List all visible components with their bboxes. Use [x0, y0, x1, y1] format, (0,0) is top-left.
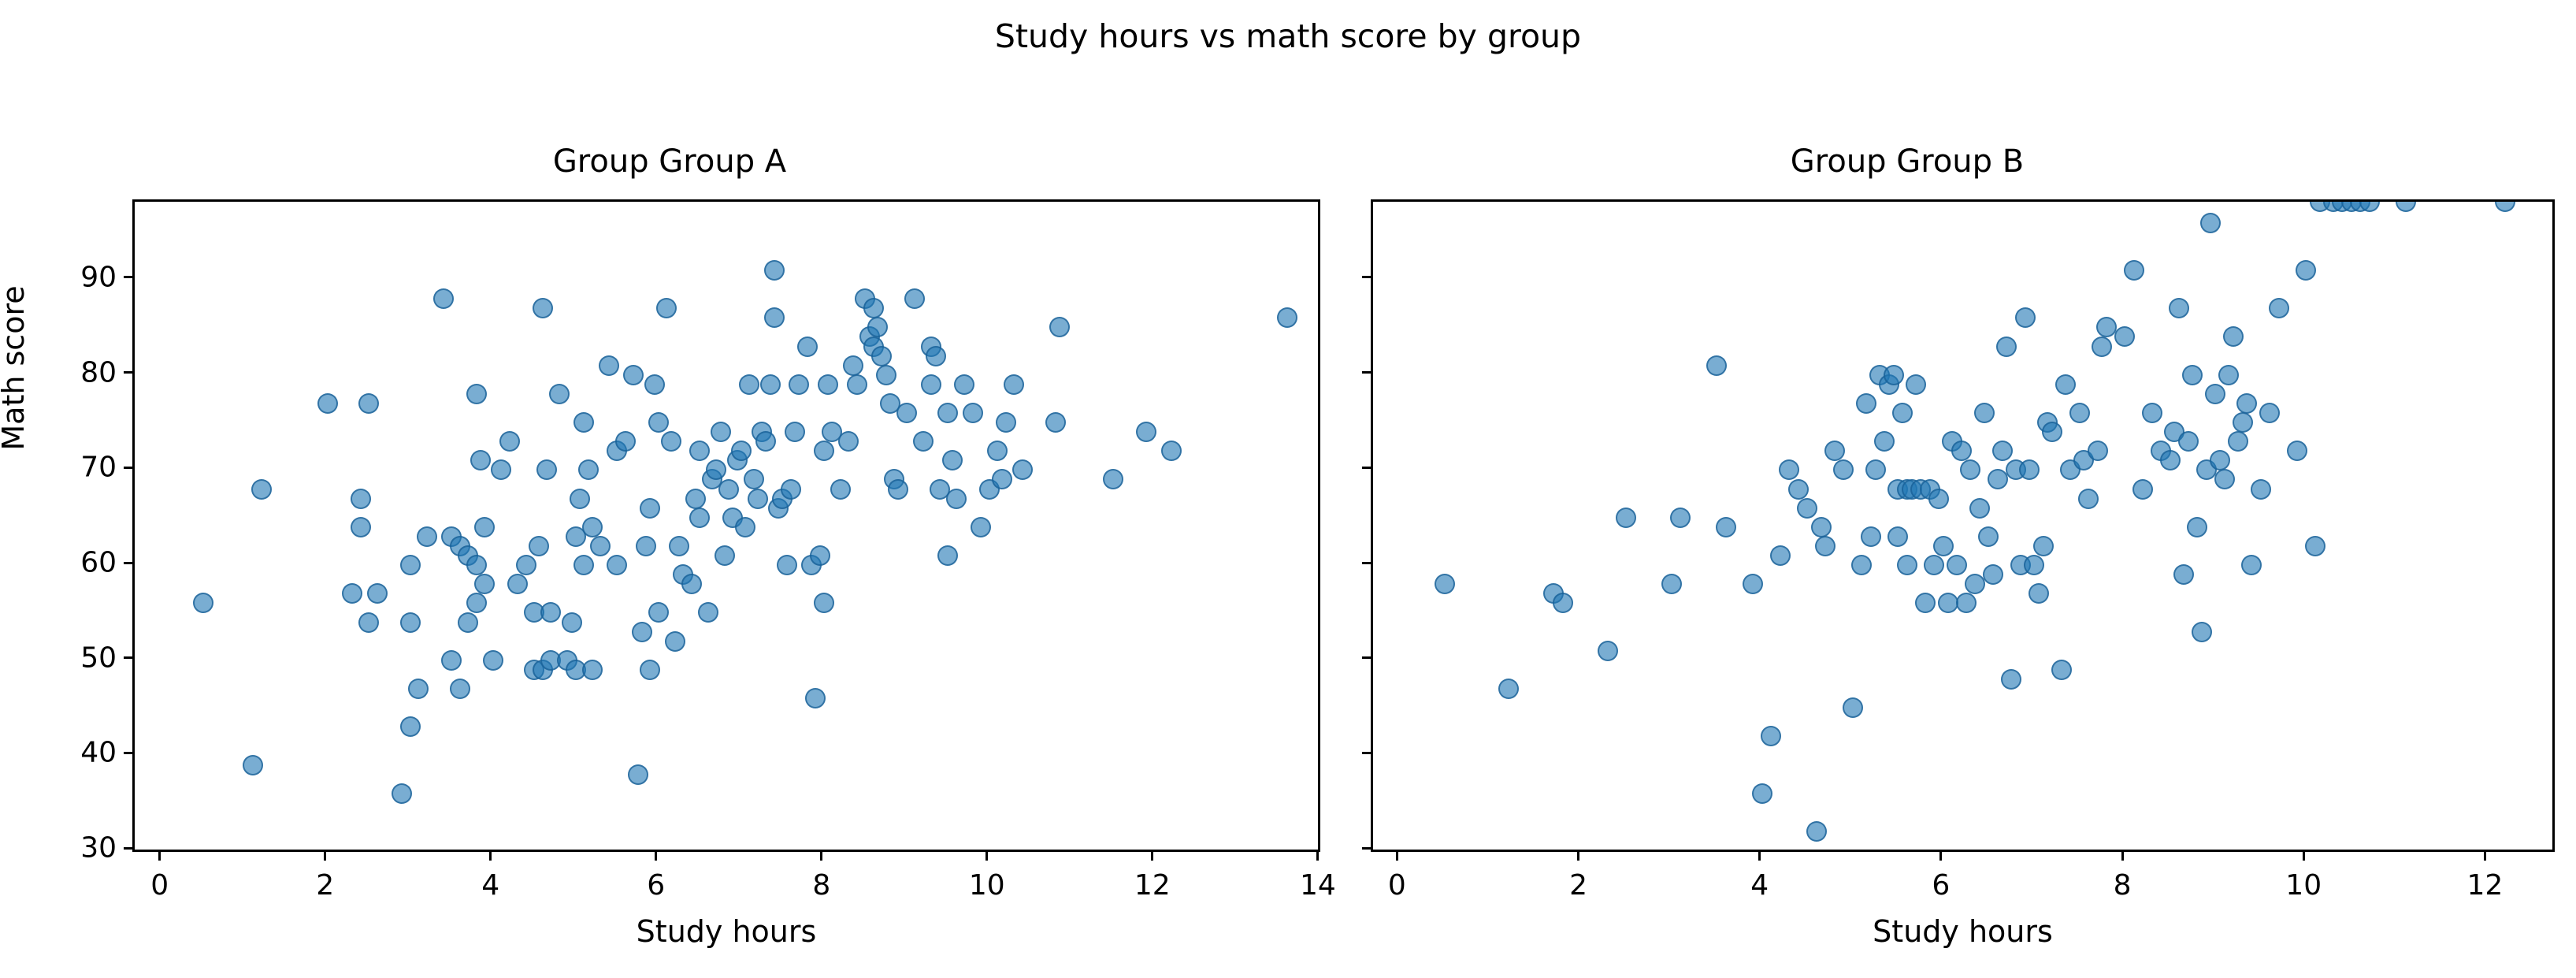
scatter-point — [450, 679, 470, 699]
scatter-point — [1978, 526, 1999, 547]
scatter-point — [1924, 555, 1944, 575]
scatter-point — [2160, 450, 2181, 470]
scatter-point — [2218, 365, 2239, 385]
x-axis-label-group-b: Study hours — [1371, 914, 2555, 949]
scatter-point — [2205, 384, 2225, 404]
scatter-point — [573, 412, 594, 433]
scatter-point — [483, 650, 503, 671]
scatter-point — [474, 574, 495, 594]
scatter-point — [466, 384, 487, 404]
scatter-point — [785, 422, 805, 442]
plot-area-group-a — [132, 199, 1320, 852]
scatter-point — [2169, 298, 2189, 318]
scatter-point — [549, 384, 570, 404]
scatter-point — [764, 307, 785, 328]
scatter-point — [2495, 202, 2515, 212]
scatter-point — [2088, 441, 2108, 461]
x-tick-mark — [2121, 852, 2124, 861]
y-tick-mark — [1362, 847, 1371, 850]
y-tick-mark — [1362, 562, 1371, 564]
scatter-point — [342, 583, 362, 604]
scatter-point — [441, 650, 462, 671]
x-tick-mark — [2303, 852, 2305, 861]
scatter-point — [1049, 317, 1070, 337]
scatter-point — [1004, 374, 1024, 395]
scatter-point — [562, 612, 582, 633]
scatter-point — [1892, 403, 1913, 423]
x-tick-label: 6 — [1932, 869, 1950, 902]
scatter-point — [317, 393, 338, 414]
scatter-point — [876, 365, 896, 385]
x-tick-mark — [1396, 852, 1398, 861]
scatter-point — [351, 489, 371, 509]
scatter-point — [2241, 555, 2262, 575]
scatter-point — [805, 688, 826, 708]
x-tick-mark — [2484, 852, 2486, 861]
x-tick-label: 8 — [812, 869, 830, 902]
scatter-point — [1045, 412, 1066, 433]
scatter-point — [1743, 574, 1763, 594]
scatter-point — [2069, 403, 2090, 423]
scatter-point — [1988, 469, 2008, 489]
scatter-point — [2092, 337, 2112, 357]
y-tick-label: 50 — [38, 641, 117, 674]
scatter-point — [963, 403, 983, 423]
scatter-point — [1661, 574, 1682, 594]
scatter-point — [367, 583, 388, 604]
scatter-point — [466, 555, 487, 575]
scatter-point — [735, 517, 755, 537]
scatter-point — [1161, 441, 1182, 461]
scatter-point — [615, 431, 636, 452]
scatter-point — [777, 555, 797, 575]
scatter-point — [458, 612, 478, 633]
scatter-point — [2305, 536, 2325, 556]
scatter-point — [392, 783, 412, 804]
scatter-point — [2142, 403, 2162, 423]
y-tick-mark — [124, 276, 132, 278]
y-tick-mark — [124, 752, 132, 754]
y-tick-mark — [124, 371, 132, 374]
scatter-point — [570, 489, 590, 509]
scatter-point — [536, 459, 557, 480]
x-tick-mark — [985, 852, 988, 861]
scatter-point — [2096, 317, 2117, 337]
scatter-point — [1851, 555, 1872, 575]
scatter-point — [474, 517, 495, 537]
scatter-point — [1951, 441, 1972, 461]
scatter-point — [814, 441, 834, 461]
scatter-point — [573, 555, 594, 575]
scatter-point — [578, 459, 599, 480]
scatter-point — [2259, 403, 2280, 423]
x-tick-mark — [1577, 852, 1579, 861]
scatter-point — [648, 602, 669, 623]
scatter-point — [1752, 783, 1772, 804]
scatter-point — [599, 355, 619, 376]
scatter-point — [818, 374, 838, 395]
scatter-point — [1965, 574, 1985, 594]
scatter-point — [711, 422, 731, 442]
scatter-point — [251, 479, 272, 500]
scatter-point — [2078, 489, 2099, 509]
scatter-point — [2051, 660, 2072, 680]
scatter-point — [243, 755, 263, 775]
scatter-point — [400, 555, 421, 575]
scatter-point — [1833, 459, 1854, 480]
scatter-point — [748, 489, 768, 509]
scatter-point — [810, 545, 830, 566]
scatter-point — [636, 536, 656, 556]
scatter-point — [797, 337, 818, 357]
scatter-point — [1811, 517, 1832, 537]
scatter-point — [1779, 459, 1799, 480]
scatter-point — [2001, 669, 2021, 690]
scatter-point — [2236, 393, 2257, 414]
y-tick-label: 80 — [38, 356, 117, 389]
y-tick-mark — [1362, 371, 1371, 374]
scatter-point — [996, 412, 1016, 433]
scatter-point — [1136, 422, 1156, 442]
scatter-point — [755, 431, 776, 452]
scatter-point — [1906, 374, 1926, 395]
scatter-point — [2269, 298, 2289, 318]
scatter-point — [2187, 517, 2207, 537]
y-tick-mark — [1362, 467, 1371, 469]
scatter-point — [926, 346, 946, 366]
scatter-point — [1761, 726, 1781, 746]
scatter-point — [400, 716, 421, 737]
scatter-point — [2228, 431, 2248, 452]
x-tick-mark — [655, 852, 657, 861]
scatter-point — [351, 517, 371, 537]
scatter-point — [1616, 508, 1636, 528]
scatter-point — [529, 536, 549, 556]
scatter-point — [1884, 365, 1904, 385]
scatter-point — [867, 317, 888, 337]
scatter-point — [2233, 412, 2253, 433]
scatter-point — [715, 545, 735, 566]
scatter-point — [656, 298, 677, 318]
scatter-point — [1806, 821, 1827, 842]
scatter-point — [1788, 479, 1809, 500]
x-tick-label: 6 — [647, 869, 665, 902]
scatter-point — [1996, 337, 2017, 357]
x-tick-mark — [1758, 852, 1761, 861]
x-tick-mark — [820, 852, 822, 861]
subplot-b-title: Group Group B — [1238, 143, 2576, 180]
scatter-points-group-b — [1373, 202, 2552, 850]
scatter-point — [2055, 374, 2076, 395]
scatter-point — [1969, 498, 1990, 519]
scatter-point — [607, 555, 627, 575]
scatter-point — [1843, 697, 1863, 718]
plot-area-group-b — [1371, 199, 2555, 852]
x-tick-mark — [1939, 852, 1942, 861]
scatter-point — [1861, 526, 1881, 547]
scatter-point — [689, 441, 710, 461]
scatter-point — [937, 403, 958, 423]
scatter-point — [2214, 469, 2235, 489]
x-tick-label: 4 — [481, 869, 499, 902]
scatter-point — [2015, 307, 2036, 328]
scatter-point — [781, 479, 801, 500]
x-tick-mark — [489, 852, 492, 861]
scatter-point — [2029, 583, 2049, 604]
scatter-point — [1670, 508, 1691, 528]
scatter-point — [888, 479, 908, 500]
scatter-point — [1874, 431, 1895, 452]
scatter-point — [499, 431, 520, 452]
scatter-point — [744, 469, 764, 489]
scatter-point — [871, 346, 892, 366]
y-tick-mark — [124, 847, 132, 850]
y-tick-mark — [1362, 276, 1371, 278]
scatter-point — [2019, 459, 2040, 480]
scatter-point — [1887, 526, 1908, 547]
scatter-point — [2200, 213, 2221, 233]
scatter-point — [896, 403, 917, 423]
y-tick-mark — [1362, 656, 1371, 659]
scatter-point — [764, 260, 785, 281]
scatter-point — [2223, 326, 2244, 347]
x-tick-mark — [324, 852, 326, 861]
scatter-point — [1553, 593, 1573, 613]
scatter-point — [789, 374, 809, 395]
scatter-point — [1947, 555, 1967, 575]
scatter-point — [992, 469, 1012, 489]
scatter-point — [1797, 498, 1817, 519]
x-tick-label: 10 — [2285, 869, 2322, 902]
scatter-point — [838, 431, 859, 452]
figure-canvas: Study hours vs math score by group Group… — [0, 0, 2576, 978]
y-tick-label: 70 — [38, 452, 117, 484]
scatter-point — [516, 555, 536, 575]
scatter-point — [2124, 260, 2144, 281]
scatter-point — [814, 593, 834, 613]
scatter-point — [2114, 326, 2135, 347]
scatter-point — [1974, 403, 1995, 423]
scatter-point — [2296, 260, 2316, 281]
scatter-point — [1012, 459, 1033, 480]
scatter-point — [1498, 679, 1519, 699]
scatter-point — [590, 536, 611, 556]
scatter-point — [2192, 622, 2212, 642]
scatter-point — [921, 374, 941, 395]
y-tick-mark — [124, 562, 132, 564]
x-tick-label: 12 — [1134, 869, 1171, 902]
scatter-point — [491, 459, 511, 480]
scatter-point — [1815, 536, 1835, 556]
y-tick-mark — [124, 656, 132, 659]
subplot-group-a: Group Group A Math score Study hours 024… — [0, 0, 1339, 978]
scatter-point — [533, 298, 553, 318]
scatter-point — [1856, 393, 1876, 414]
scatter-point — [1983, 564, 2003, 585]
scatter-point — [1706, 355, 1727, 376]
scatter-point — [417, 526, 437, 547]
scatter-point — [507, 574, 528, 594]
scatter-point — [2182, 365, 2203, 385]
scatter-point — [698, 602, 718, 623]
scatter-point — [193, 593, 213, 613]
scatter-point — [1103, 469, 1123, 489]
x-tick-label: 10 — [969, 869, 1005, 902]
y-tick-label: 40 — [38, 737, 117, 769]
scatter-point — [830, 479, 851, 500]
scatter-point — [582, 660, 603, 680]
x-tick-label: 2 — [316, 869, 334, 902]
subplot-group-b: Group Group B Study hours 024681012 — [1238, 0, 2576, 978]
scatter-point — [1956, 593, 1977, 613]
scatter-point — [433, 288, 454, 309]
y-tick-label: 90 — [38, 261, 117, 293]
scatter-point — [665, 631, 685, 652]
scatter-point — [1716, 517, 1736, 537]
scatter-point — [2210, 450, 2230, 470]
scatter-point — [1865, 459, 1886, 480]
scatter-point — [669, 536, 689, 556]
x-tick-label: 4 — [1750, 869, 1769, 902]
scatter-point — [913, 431, 934, 452]
x-tick-label: 0 — [150, 869, 169, 902]
scatter-point — [946, 489, 967, 509]
x-tick-label: 8 — [2114, 869, 2132, 902]
scatter-point — [2024, 555, 2044, 575]
scatter-point — [987, 441, 1008, 461]
scatter-point — [466, 593, 487, 613]
scatter-point — [954, 374, 974, 395]
scatter-point — [623, 365, 644, 385]
scatter-point — [644, 374, 665, 395]
scatter-point — [1960, 459, 1980, 480]
scatter-point — [1915, 593, 1936, 613]
scatter-point — [681, 574, 702, 594]
scatter-point — [863, 298, 884, 318]
scatter-point — [971, 517, 991, 537]
x-tick-label: 12 — [2467, 869, 2503, 902]
scatter-point — [2173, 564, 2194, 585]
scatter-point — [470, 450, 491, 470]
scatter-point — [937, 545, 958, 566]
scatter-point — [2033, 536, 2054, 556]
scatter-point — [582, 517, 603, 537]
scatter-point — [358, 393, 379, 414]
scatter-point — [1897, 555, 1917, 575]
y-tick-mark — [1362, 752, 1371, 754]
scatter-point — [2396, 202, 2416, 212]
y-tick-mark — [124, 467, 132, 469]
scatter-point — [1992, 441, 2013, 461]
y-tick-label: 60 — [38, 547, 117, 579]
scatter-point — [731, 441, 752, 461]
scatter-point — [847, 374, 867, 395]
x-tick-mark — [158, 852, 161, 861]
scatter-point — [2178, 431, 2199, 452]
y-tick-label: 30 — [38, 832, 117, 865]
scatter-point — [1824, 441, 1845, 461]
scatter-point — [400, 612, 421, 633]
scatter-point — [540, 602, 561, 623]
scatter-point — [689, 508, 710, 528]
scatter-point — [2042, 422, 2062, 442]
scatter-point — [632, 622, 652, 642]
scatter-point — [661, 431, 681, 452]
scatter-point — [1928, 489, 1949, 509]
scatter-point — [358, 612, 379, 633]
scatter-point — [1938, 593, 1958, 613]
subplot-a-title: Group Group A — [0, 143, 1339, 180]
scatter-point — [942, 450, 963, 470]
scatter-point — [760, 374, 781, 395]
scatter-point — [1598, 641, 1618, 661]
scatter-point — [706, 459, 726, 480]
scatter-point — [2287, 441, 2307, 461]
scatter-point — [1770, 545, 1791, 566]
x-axis-label-group-a: Study hours — [132, 914, 1320, 949]
scatter-point — [2132, 479, 2153, 500]
scatter-point — [685, 489, 706, 509]
scatter-point — [904, 288, 925, 309]
scatter-points-group-a — [135, 202, 1318, 850]
scatter-point — [408, 679, 429, 699]
x-tick-label: 2 — [1569, 869, 1587, 902]
scatter-point — [640, 498, 660, 519]
scatter-point — [1933, 536, 1954, 556]
y-axis-label: Math score — [0, 210, 31, 526]
x-tick-mark — [1151, 852, 1153, 861]
scatter-point — [843, 355, 863, 376]
scatter-point — [718, 479, 739, 500]
scatter-point — [1435, 574, 1455, 594]
scatter-point — [2251, 479, 2271, 500]
scatter-point — [648, 412, 669, 433]
scatter-point — [640, 660, 660, 680]
x-tick-label: 0 — [1388, 869, 1406, 902]
scatter-point — [739, 374, 759, 395]
scatter-point — [628, 764, 648, 785]
